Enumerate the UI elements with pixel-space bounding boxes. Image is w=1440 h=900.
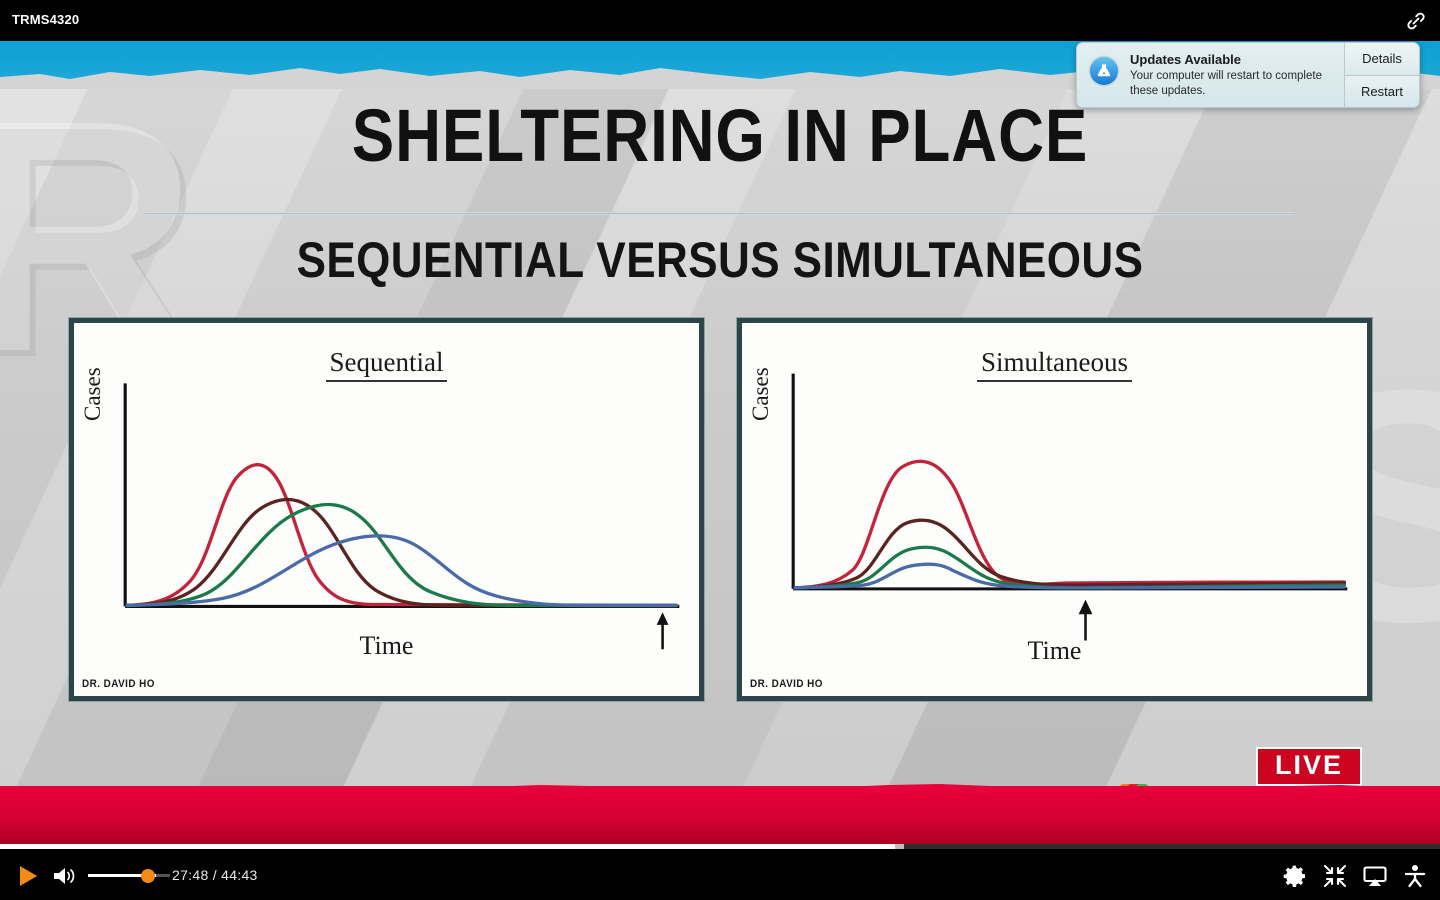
torn-paper-bottom-band — [0, 786, 1440, 848]
player-controls: 27:48 / 44:43 — [0, 848, 1440, 900]
notification-body: Updates Available Your computer will res… — [1077, 43, 1344, 107]
notification-title: Updates Available — [1130, 52, 1336, 67]
headline-divider — [145, 212, 1293, 215]
chart-panel-sequential: Sequential Cases Ti — [69, 318, 704, 701]
progress-bar[interactable] — [0, 844, 1440, 849]
notification-message: Your computer will restart to complete t… — [1130, 69, 1336, 98]
airplay-icon[interactable] — [1362, 863, 1388, 889]
volume-slider-handle[interactable] — [141, 869, 155, 883]
right-controls — [1282, 863, 1428, 889]
video-frame[interactable]: R S SHELTERING IN PLACE SEQUENTIAL VERSU… — [0, 41, 1440, 848]
chart-panel-simultaneous: Simultaneous Cases Time DR. DAV — [737, 318, 1372, 701]
controls-row: 27:48 / 44:43 — [0, 858, 1440, 892]
timecode-label: 27:48 / 44:43 — [172, 867, 258, 883]
progress-played — [0, 844, 896, 849]
video-player-window: TRMS4320 R S SHELTERING IN PLACE SEQUENT… — [0, 0, 1440, 900]
chart-xlabel-sequential: Time — [74, 631, 699, 661]
progress-knob[interactable] — [895, 844, 904, 849]
notification-text: Updates Available Your computer will res… — [1130, 51, 1336, 99]
accessibility-person-icon[interactable] — [1402, 863, 1428, 889]
slide-subheadline: SEQUENTIAL VERSUS SIMULTANEOUS — [86, 231, 1353, 289]
chart-xlabel-simultaneous: Time — [742, 636, 1367, 666]
volume-button[interactable] — [52, 865, 78, 887]
exit-fullscreen-icon[interactable] — [1322, 863, 1348, 889]
restart-button[interactable]: Restart — [1345, 75, 1419, 108]
chart-annotation-arrow-simultaneous — [1079, 600, 1093, 641]
app-store-icon — [1087, 54, 1121, 88]
window-titlebar: TRMS4320 — [0, 0, 1440, 41]
volume-slider-track-remainder[interactable] — [156, 874, 170, 877]
play-button[interactable] — [16, 864, 40, 888]
notification-actions: Details Restart — [1344, 43, 1419, 107]
update-notification[interactable]: Updates Available Your computer will res… — [1076, 42, 1420, 108]
window-title: TRMS4320 — [12, 12, 79, 27]
link-icon[interactable] — [1404, 9, 1428, 33]
chart-credit-sequential: DR. DAVID HO — [82, 678, 155, 690]
chart-credit-simultaneous: DR. DAVID HO — [750, 678, 823, 690]
details-button[interactable]: Details — [1345, 43, 1419, 75]
gear-icon[interactable] — [1282, 863, 1308, 889]
